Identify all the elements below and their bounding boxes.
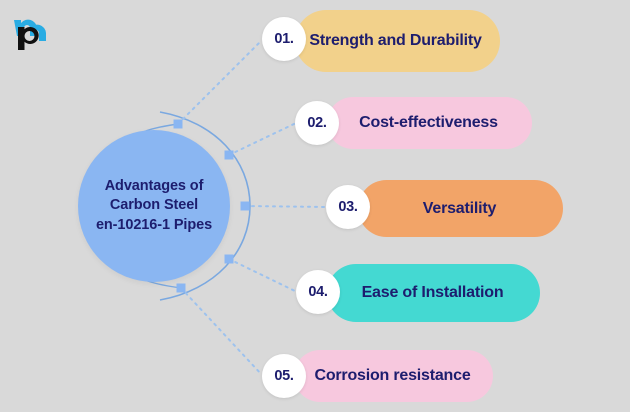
advantage-label-2: Cost-effectiveness — [327, 113, 532, 133]
advantage-label-3: Versatility — [358, 199, 563, 219]
center-topic-circle: Advantages of Carbon Steel en-10216-1 Pi… — [78, 130, 230, 282]
advantage-badge-4: 04. — [296, 270, 340, 314]
advantage-pill-5[interactable]: Corrosion resistance — [294, 350, 493, 402]
leader-line-3 — [245, 206, 327, 207]
advantage-number-2: 02. — [307, 115, 326, 131]
leader-line-4 — [229, 259, 297, 292]
advantage-label-4: Ease of Installation — [327, 283, 540, 303]
advantage-number-1: 01. — [274, 31, 293, 47]
advantage-pill-3[interactable]: Versatility — [358, 180, 563, 237]
advantage-number-5: 05. — [274, 368, 293, 384]
leader-line-5 — [181, 288, 262, 375]
infographic-canvas: Advantages of Carbon Steel en-10216-1 Pi… — [0, 0, 630, 412]
connector-node-2 — [225, 151, 234, 160]
brand-logo — [12, 10, 58, 50]
leader-line-2 — [229, 123, 296, 155]
connector-node-1 — [174, 120, 183, 129]
advantage-badge-2: 02. — [295, 101, 339, 145]
advantage-pill-1[interactable]: Strength and Durability — [295, 10, 500, 72]
advantage-pill-4[interactable]: Ease of Installation — [327, 264, 540, 322]
advantage-number-3: 03. — [338, 199, 357, 215]
advantage-label-1: Strength and Durability — [295, 31, 500, 51]
leader-line-1 — [178, 40, 262, 124]
connector-node-5 — [177, 284, 186, 293]
connector-node-4 — [225, 255, 234, 264]
center-topic-label: Advantages of Carbon Steel en-10216-1 Pi… — [90, 177, 218, 234]
advantage-badge-5: 05. — [262, 354, 306, 398]
advantage-number-4: 04. — [308, 284, 327, 300]
advantage-badge-1: 01. — [262, 17, 306, 61]
connector-node-3 — [241, 202, 250, 211]
mp-monogram-logo-icon — [12, 10, 58, 50]
advantage-label-5: Corrosion resistance — [294, 366, 493, 386]
advantage-badge-3: 03. — [326, 185, 370, 229]
advantage-pill-2[interactable]: Cost-effectiveness — [327, 97, 532, 149]
